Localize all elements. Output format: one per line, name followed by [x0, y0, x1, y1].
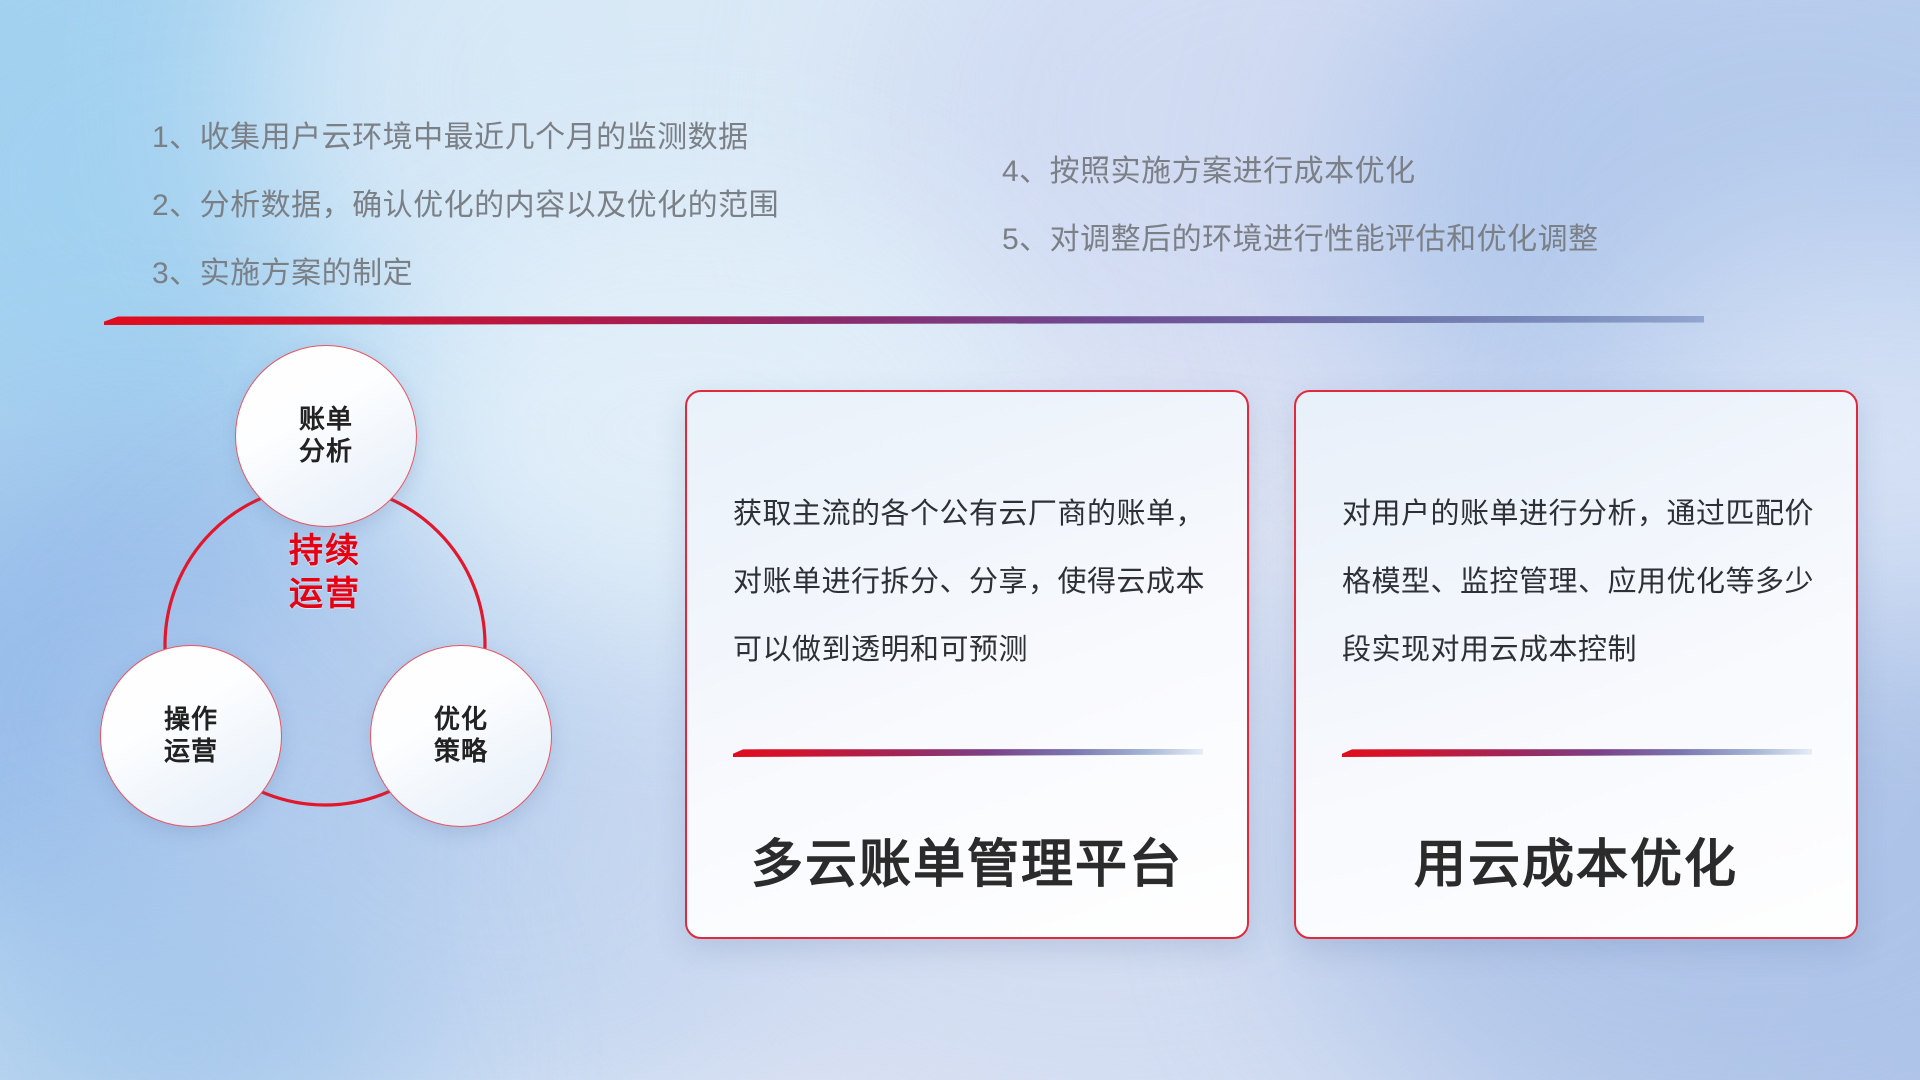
diagram-bubble-operation[interactable]: 操作 运营 — [100, 645, 282, 827]
bubble-label-line2: 分析 — [299, 436, 353, 468]
diagram-bubble-optimization-strategy[interactable]: 优化 策略 — [370, 645, 552, 827]
card-divider — [733, 749, 1203, 757]
card-divider — [1342, 749, 1812, 757]
card-body-text: 对用户的账单进行分析，通过匹配价格模型、监控管理、应用优化等多少段实现对用云成本… — [1342, 480, 1818, 684]
bubble-label-line2: 策略 — [434, 736, 488, 768]
continuous-operation-diagram: 账单 分析 操作 运营 优化 策略 持续 运营 — [95, 345, 635, 965]
diagram-bubble-bill-analysis[interactable]: 账单 分析 — [235, 345, 417, 527]
diagram-center-label: 持续 运营 — [245, 530, 405, 615]
step-item: 3、实施方案的制定 — [152, 254, 779, 294]
steps-list-right: 4、按照实施方案进行成本优化 5、对调整后的环境进行性能评估和优化调整 — [1002, 152, 1599, 288]
bubble-label-line1: 优化 — [434, 704, 488, 736]
center-label-line1: 持续 — [245, 530, 405, 573]
center-label-line2: 运营 — [245, 573, 405, 616]
bubble-label-line1: 操作 — [164, 704, 218, 736]
steps-list-left: 1、收集用户云环境中最近几个月的监测数据 2、分析数据，确认优化的内容以及优化的… — [152, 118, 779, 322]
card-title: 用云成本优化 — [1296, 822, 1856, 897]
step-item: 2、分析数据，确认优化的内容以及优化的范围 — [152, 186, 779, 226]
step-item: 4、按照实施方案进行成本优化 — [1002, 152, 1599, 192]
card-cloud-cost-optimization[interactable]: 对用户的账单进行分析，通过匹配价格模型、监控管理、应用优化等多少段实现对用云成本… — [1294, 390, 1858, 939]
card-title: 多云账单管理平台 — [687, 822, 1247, 897]
bubble-label-line1: 账单 — [299, 404, 353, 436]
step-item: 5、对调整后的环境进行性能评估和优化调整 — [1002, 220, 1599, 260]
step-item: 1、收集用户云环境中最近几个月的监测数据 — [152, 118, 779, 158]
bubble-label-line2: 运营 — [164, 736, 218, 768]
card-body-text: 获取主流的各个公有云厂商的账单，对账单进行拆分、分享，使得云成本可以做到透明和可… — [733, 480, 1209, 684]
card-multi-cloud-bill-platform[interactable]: 获取主流的各个公有云厂商的账单，对账单进行拆分、分享，使得云成本可以做到透明和可… — [685, 390, 1249, 939]
